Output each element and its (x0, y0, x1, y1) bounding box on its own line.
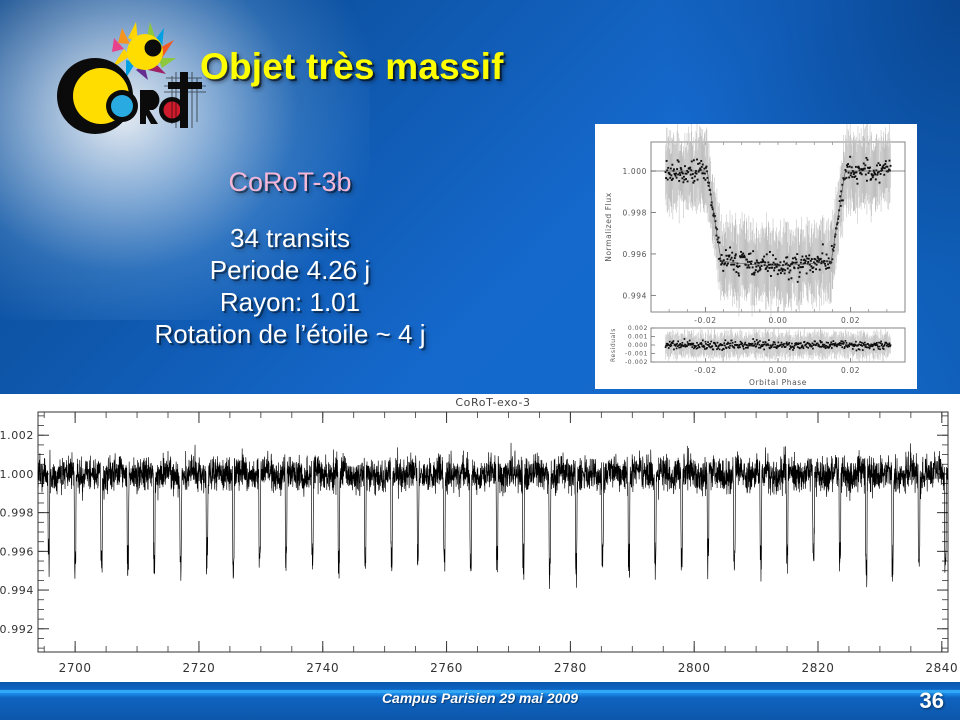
residual-xtick-label: -0.02 (694, 366, 716, 375)
transit-xtick-label: 0.00 (768, 316, 787, 325)
transit-ytick-label: 0.996 (623, 250, 647, 259)
parameter-line-period: Periode 4.26 j (0, 254, 580, 286)
corot-exo-3-lightcurve-figure: CoRoT-exo-31.0021.0000.9980.9960.9940.99… (0, 394, 960, 682)
residual-ytick-label: -0.001 (625, 351, 648, 358)
transit-ytick-label: 1.000 (623, 167, 647, 176)
logo-letter-o (106, 90, 138, 122)
lightcurve-xtick-label: 2720 (182, 661, 215, 675)
lightcurve-xtick-label: 2760 (430, 661, 463, 675)
phase-folded-transit-figure: 1.0000.9980.9960.994Normalized Flux-0.02… (595, 124, 917, 389)
parameter-line-radius: Rayon: 1.01 (0, 286, 580, 318)
parameter-line-rotation: Rotation de l’étoile ~ 4 j (0, 318, 580, 350)
lightcurve-ytick-label: 0.992 (0, 623, 34, 636)
residual-xtick-label: 0.00 (768, 366, 787, 375)
parameter-line-transits: 34 transits (0, 222, 580, 254)
lightcurve-frame (38, 412, 948, 652)
lightcurve-ytick-label: 0.996 (0, 545, 34, 558)
lightcurve-title: CoRoT-exo-3 (455, 396, 530, 409)
lightcurve-xtick-label: 2800 (678, 661, 711, 675)
lightcurve-ytick-label: 1.000 (0, 468, 34, 481)
lightcurve-xtick-label: 2700 (59, 661, 92, 675)
slide-title: Objet très massif (200, 46, 504, 88)
slide-corot-3b: Objet très massif CoRoT-3b 34 transits P… (0, 0, 960, 720)
lightcurve-xtick-label: 2820 (802, 661, 835, 675)
transit-xtick-label: -0.02 (694, 316, 716, 325)
transit-xtick-label: 0.02 (841, 316, 860, 325)
transit-ytick-label: 0.998 (623, 208, 647, 217)
lightcurve-xtick-label: 2840 (925, 661, 958, 675)
lightcurve-ytick-label: 0.998 (0, 507, 34, 520)
footer-text: Campus Parisien 29 mai 2009 (0, 690, 960, 706)
lightcurve-xtick-label: 2780 (554, 661, 587, 675)
transit-errorbars (666, 124, 891, 319)
logo-sun-eye (145, 40, 162, 57)
object-name-subtitle: CoRoT-3b (0, 167, 580, 198)
lightcurve-ytick-label: 0.994 (0, 584, 34, 597)
corot-logo (52, 16, 212, 144)
residual-ytick-label: 0.002 (628, 325, 648, 332)
residual-xtick-label: 0.02 (841, 366, 860, 375)
lightcurve-ytick-label: 1.002 (0, 429, 34, 442)
residual-ytick-label: 0.001 (628, 334, 648, 341)
residual-xlabel: Orbital Phase (749, 378, 807, 387)
lightcurve-trace (38, 443, 948, 589)
transit-ylabel: Normalized Flux (604, 192, 613, 262)
logo-letter-r (140, 90, 159, 124)
transit-ytick-label: 0.994 (623, 291, 647, 300)
residual-ytick-label: -0.002 (625, 359, 648, 366)
residual-ytick-label: 0.000 (628, 342, 648, 349)
parameter-list: 34 transits Periode 4.26 j Rayon: 1.01 R… (0, 222, 580, 350)
lightcurve-xtick-label: 2740 (306, 661, 339, 675)
residual-ylabel: Residuals (610, 328, 617, 362)
page-number: 36 (920, 688, 944, 714)
